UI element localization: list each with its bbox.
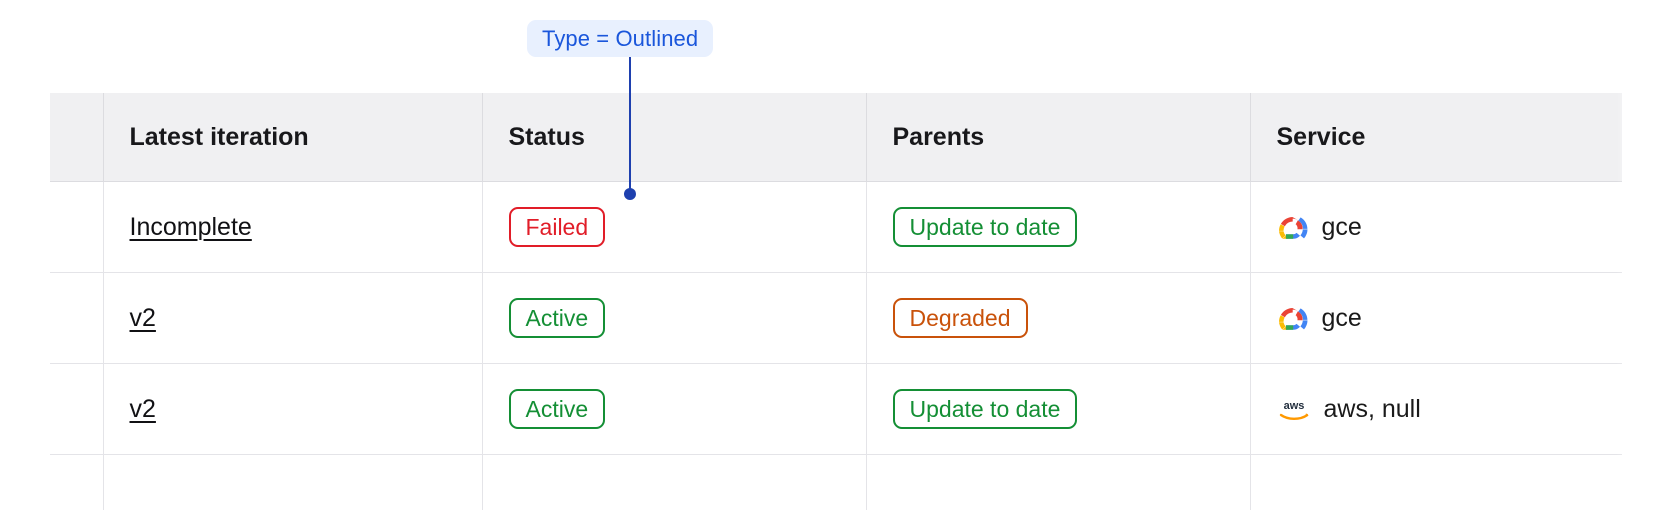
row-gutter-cell [50,364,103,455]
service-label: gce [1322,213,1362,242]
parents-badge[interactable]: Update to date [893,389,1078,429]
service-group: aws aws, null [1277,395,1623,424]
cell-parents [866,455,1250,510]
table-row[interactable]: Incomplete Failed Update to date [50,182,1622,273]
table-scroll-container[interactable]: Latest iteration Status Parents Service … [50,93,1622,510]
parents-badge[interactable]: Update to date [893,207,1078,247]
iteration-link[interactable]: v2 [130,304,156,332]
cell-status: Active [482,273,866,364]
cell-status: Failed [482,182,866,273]
column-header-service[interactable]: Service [1250,93,1622,182]
cell-status [482,455,866,510]
iteration-link[interactable]: Incomplete [130,213,252,241]
cell-parents: Degraded [866,273,1250,364]
column-header-latest-iteration[interactable]: Latest iteration [103,93,482,182]
cell-parents: Update to date [866,364,1250,455]
column-header-gutter [50,93,103,182]
cell-parents: Update to date [866,182,1250,273]
table-row[interactable]: v2 Active Degraded [50,273,1622,364]
table-header: Latest iteration Status Parents Service [50,93,1622,182]
table-row[interactable]: v2 Active Update to date aws aws, [50,364,1622,455]
service-group: gce [1277,213,1623,242]
google-cloud-icon [1277,304,1309,332]
parents-badge[interactable]: Degraded [893,298,1028,338]
svg-text:aws: aws [1283,400,1304,412]
cell-service: gce [1250,182,1622,273]
status-table: Latest iteration Status Parents Service … [50,93,1622,510]
horizontal-scroll-fade [1616,93,1672,510]
row-gutter-cell [50,182,103,273]
table-header-row: Latest iteration Status Parents Service [50,93,1622,182]
table-row[interactable] [50,455,1622,510]
row-gutter-cell [50,273,103,364]
cell-status: Active [482,364,866,455]
column-header-parents[interactable]: Parents [866,93,1250,182]
service-group: gce [1277,304,1623,333]
status-badge[interactable]: Active [509,389,606,429]
cell-service: aws aws, null [1250,364,1622,455]
cell-latest-iteration: v2 [103,364,482,455]
column-header-status[interactable]: Status [482,93,866,182]
row-gutter-cell [50,455,103,510]
status-badge[interactable]: Active [509,298,606,338]
cell-latest-iteration [103,455,482,510]
status-badge[interactable]: Failed [509,207,606,247]
service-label: aws, null [1324,395,1421,424]
annotation-badge[interactable]: Type = Outlined [527,20,713,57]
table-body: Incomplete Failed Update to date [50,182,1622,510]
google-cloud-icon [1277,213,1309,241]
cell-service [1250,455,1622,510]
aws-icon: aws [1277,396,1311,422]
service-label: gce [1322,304,1362,333]
cell-service: gce [1250,273,1622,364]
cell-latest-iteration: v2 [103,273,482,364]
cell-latest-iteration: Incomplete [103,182,482,273]
iteration-link[interactable]: v2 [130,395,156,423]
